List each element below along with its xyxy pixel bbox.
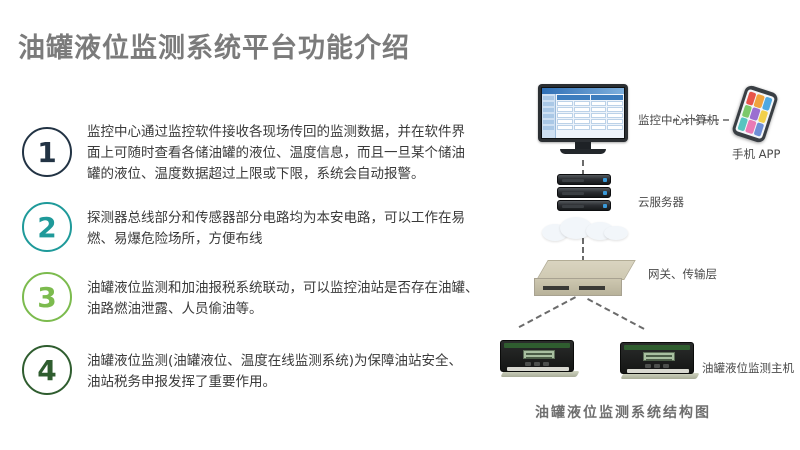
server-unit: [557, 200, 611, 211]
connector-server-to-gateway: [582, 238, 584, 262]
host-buttons: [525, 362, 549, 366]
gateway-top-face: [536, 260, 636, 280]
monitor-stand-neck: [575, 142, 591, 149]
screen-table-right: [591, 95, 624, 137]
screen-table-left: [557, 95, 590, 137]
phone-body: [731, 84, 779, 144]
server-unit: [557, 187, 611, 198]
host-top-strip: [504, 343, 570, 348]
feature-number-badge-1: 1: [22, 127, 72, 177]
phone-screen: [735, 89, 775, 139]
host-lcd-display: [523, 350, 555, 359]
cloud-icon: [542, 216, 628, 240]
architecture-diagram: 监控中心计算机 手机 APP 云服务器: [480, 70, 800, 430]
host-buttons: [645, 364, 669, 368]
phone-label: 手机 APP: [732, 146, 780, 162]
feature-text-3: 油罐液位监测和加油报税系统联动，可以监控油站是否存在油罐、 油路燃油泄露、人员偷…: [87, 278, 492, 320]
screen-body: [542, 94, 624, 138]
feature-number-badge-4: 4: [22, 345, 72, 395]
gateway-port-2: [579, 286, 605, 290]
gateway-label: 网关、传输层: [648, 266, 717, 282]
tank-monitor-host-right: [620, 342, 694, 380]
page-title: 油罐液位监测系统平台功能介绍: [18, 26, 410, 65]
cloud-server-icon: [557, 174, 611, 213]
monitor-screen: [541, 87, 625, 139]
gateway-icon: [534, 260, 634, 298]
feature-number-badge-2: 2: [22, 202, 72, 252]
gateway-port-1: [543, 286, 569, 290]
host-bottom-strip: [507, 367, 569, 371]
monitor-label: 监控中心计算机: [638, 112, 719, 128]
server-unit: [557, 174, 611, 185]
host-body: [620, 342, 694, 374]
host-lcd-display: [643, 352, 675, 361]
screen-main: [556, 94, 624, 138]
host-top-strip: [624, 345, 690, 350]
gateway-front-face: [534, 278, 622, 296]
host-label: 油罐液位监测主机: [702, 360, 794, 376]
host-bottom-strip: [627, 369, 689, 373]
monitor-bezel: [538, 84, 628, 142]
screen-sidebar: [542, 94, 556, 138]
feature-text-1: 监控中心通过监控软件接收各现场传回的监测数据，并在软件界 面上可随时查看各储油罐…: [87, 122, 492, 185]
host-body: [500, 340, 574, 372]
feature-text-2: 探测器总线部分和传感器部分电路均为本安电路，可以工作在易 燃、易爆危险场所，方便…: [87, 208, 492, 250]
monitor-icon: [538, 84, 628, 154]
server-label: 云服务器: [638, 194, 684, 210]
feature-number-badge-3: 3: [22, 272, 72, 322]
tank-monitor-host-left: [500, 340, 574, 378]
connector-gateway-to-host-left: [519, 296, 576, 328]
phone-icon: [731, 84, 779, 144]
feature-text-4: 油罐液位监测(油罐液位、温度在线监测系统)为保障油站安全、 油站税务申报发挥了重…: [87, 351, 492, 393]
slide-root: 油罐液位监测系统平台功能介绍 1 监控中心通过监控软件接收各现场传回的监测数据，…: [0, 0, 800, 450]
diagram-caption: 油罐液位监测系统结构图: [535, 402, 711, 422]
monitor-stand-base: [560, 149, 606, 154]
connector-gateway-to-host-right: [587, 298, 644, 330]
